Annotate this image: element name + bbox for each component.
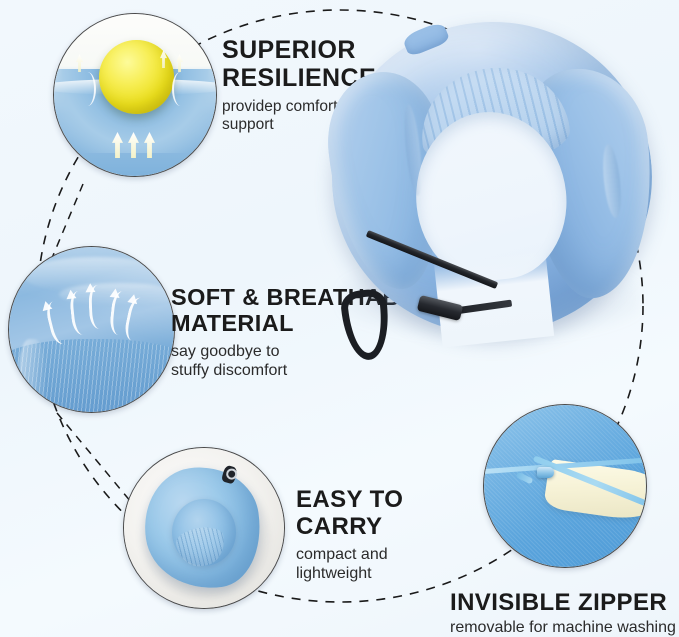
product-photo-neck-pillow bbox=[318, 8, 674, 378]
feature-subtitle: compact and lightweight bbox=[296, 546, 403, 584]
callout-invisible-zipper: INVISIBLE ZIPPER removable for machine w… bbox=[450, 590, 676, 637]
feature-title: INVISIBLE ZIPPER bbox=[450, 590, 676, 617]
zipper-slider-icon bbox=[537, 467, 554, 478]
product-feature-infographic: SUPERIOR RESILIENCE providep comfortable… bbox=[0, 0, 679, 637]
feature-circle-invisible-zipper bbox=[483, 404, 647, 568]
feature-title: EASY TO CARRY bbox=[296, 487, 403, 541]
strap-loop bbox=[339, 288, 392, 362]
yellow-ball-icon bbox=[99, 40, 174, 115]
fabric-seam bbox=[19, 339, 45, 412]
feature-subtitle: removable for machine washing bbox=[450, 619, 676, 637]
feature-circle-soft-breathable-material bbox=[8, 246, 175, 413]
resilience-illustration bbox=[54, 14, 216, 176]
breathable-fabric-illustration bbox=[9, 247, 174, 412]
feature-circle-superior-resilience bbox=[53, 13, 217, 177]
feature-circle-easy-to-carry bbox=[123, 447, 285, 609]
airflow-arrow-icon bbox=[88, 285, 106, 330]
compressed-pillow-illustration bbox=[124, 448, 284, 608]
callout-easy-to-carry: EASY TO CARRY compact and lightweight bbox=[296, 487, 403, 584]
rebound-curve-icon bbox=[172, 72, 186, 106]
zipper-illustration bbox=[484, 405, 646, 567]
